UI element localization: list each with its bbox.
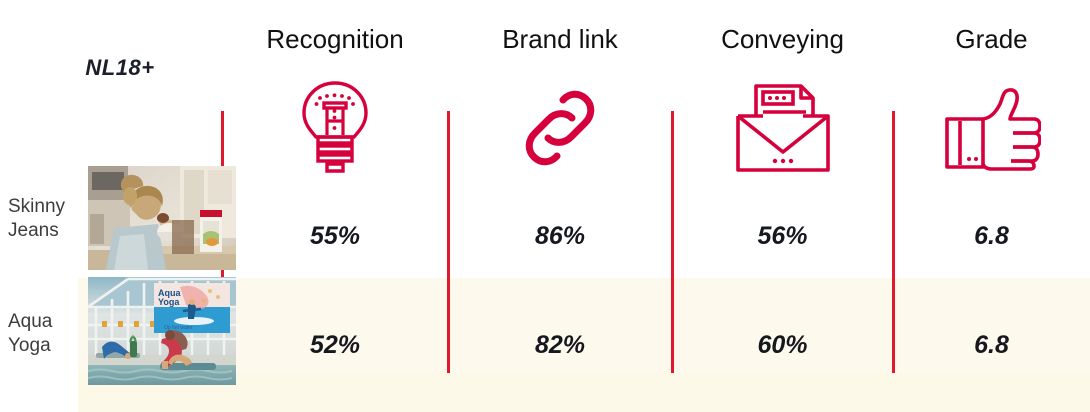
value-aqua-yoga-grade: 6.8 [893,331,1090,360]
thumbs-up-icon [893,78,1090,178]
value-skinny-jeans-grade: 6.8 [893,222,1090,251]
envelope-document-icon [672,78,893,178]
svg-text:Yoga: Yoga [158,297,180,307]
row-label-aqua-yoga: Aqua Yoga [8,310,86,358]
value-skinny-jeans-recognition: 55% [222,222,448,251]
thumbnail-skinny-jeans [88,166,236,270]
column-header-conveying: Conveying [672,24,893,55]
value-aqua-yoga-recognition: 52% [222,331,448,360]
lightbulb-icon [222,78,448,178]
row-label-line1: Skinny [8,195,86,219]
chain-link-icon [448,78,672,178]
column-header-recognition: Recognition [222,24,448,55]
row-label-line1: Aqua [8,310,86,334]
value-aqua-yoga-brand-link: 82% [448,331,672,360]
thumbnail-aqua-yoga: Aqua Yoga Op het water [88,277,236,385]
metrics-scorecard: NL18+ Recognition Brand link Conveying G… [0,0,1090,412]
value-aqua-yoga-conveying: 60% [672,331,893,360]
column-header-grade: Grade [893,24,1090,55]
market-label: NL18+ [0,55,240,81]
svg-text:Op het water: Op het water [164,325,193,331]
row-label-skinny-jeans: Skinny Jeans [8,195,86,243]
row-label-line2: Yoga [8,334,86,358]
column-header-brand-link: Brand link [448,24,672,55]
value-skinny-jeans-conveying: 56% [672,222,893,251]
value-skinny-jeans-brand-link: 86% [448,222,672,251]
row-label-line2: Jeans [8,219,86,243]
